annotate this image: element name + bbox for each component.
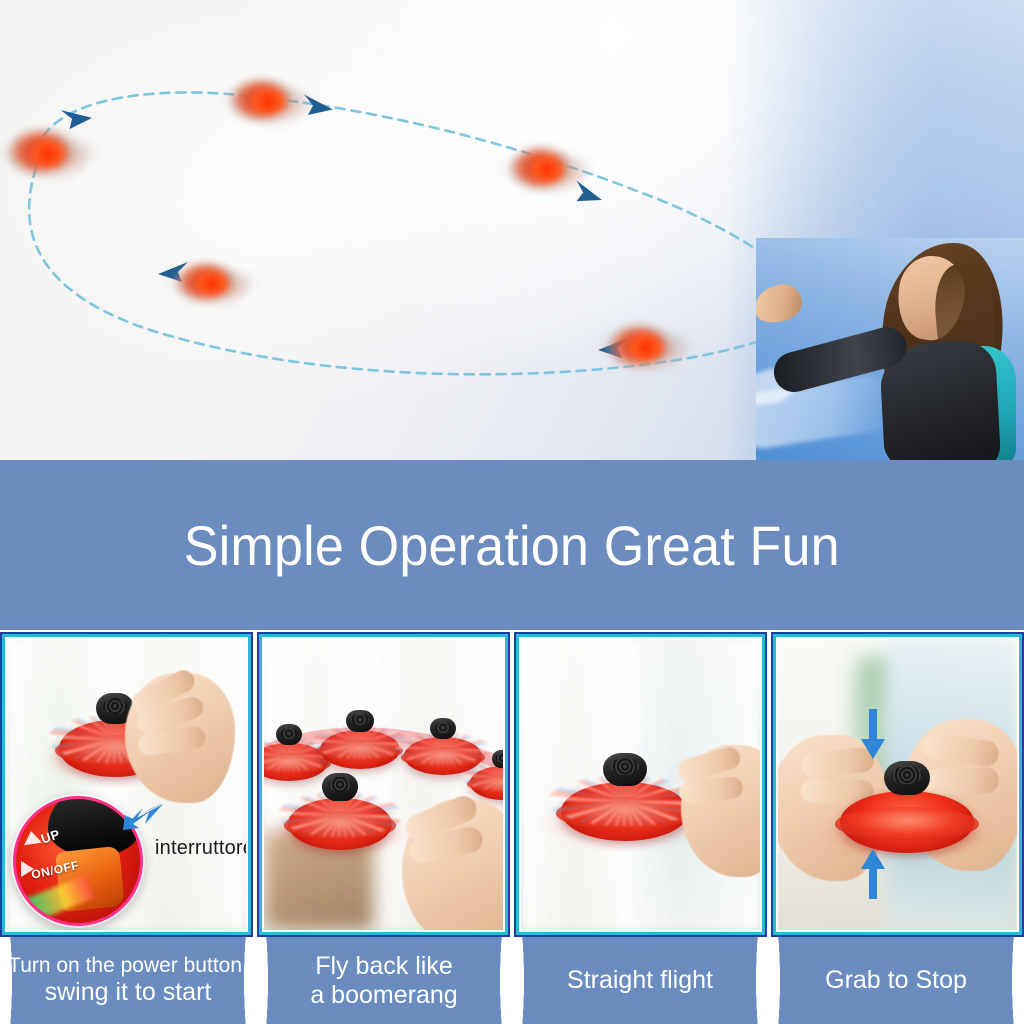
caption-grab-to-stop: Grab to Stop [768, 937, 1024, 1024]
caption-boomerang: Fly back like a boomerang [256, 937, 512, 1024]
hand-catching [402, 799, 503, 930]
drone-lower-left [174, 256, 250, 310]
panel-boomerang[interactable] [257, 632, 510, 937]
feature-panels: UP ON/OFF interruttore [0, 632, 1024, 937]
arrow-up-icon [860, 847, 886, 899]
panel-straight-flight[interactable] [514, 632, 767, 937]
spinner-toy-foreground [288, 771, 392, 855]
caption-line2: swing it to start [8, 978, 248, 1007]
headline-banner: Simple Operation Great Fun [0, 460, 1024, 630]
spinner-toy [840, 759, 974, 859]
spinner-toy [320, 709, 400, 773]
arrow-down-icon [860, 709, 886, 761]
caption-line1: Straight flight [567, 966, 713, 995]
drone-left [6, 122, 90, 184]
drone-bottom [606, 318, 686, 376]
drone-right [508, 140, 586, 198]
caption-straight-flight: Straight flight [512, 937, 768, 1024]
spinner-toy [470, 749, 503, 803]
switch-callout-arrow-icon [119, 800, 165, 834]
caption-line2: a boomerang [310, 981, 457, 1010]
switch-callout-label: interruttore [155, 837, 246, 860]
spinner-toy [561, 751, 689, 847]
panel-power-on[interactable]: UP ON/OFF interruttore [0, 632, 253, 937]
caption-line1: Grab to Stop [825, 966, 967, 995]
woman-launching-orb [756, 238, 1024, 460]
hand-beside-spinner [681, 745, 760, 877]
caption-line1: Turn on the power button, [8, 954, 248, 978]
hero-image [0, 0, 1024, 460]
hand-swinging [125, 673, 235, 803]
caption-line1: Fly back like [310, 952, 457, 981]
page-title: Simple Operation Great Fun [184, 513, 840, 578]
drone-top [228, 72, 308, 130]
caption-separator [502, 937, 521, 1024]
caption-strip: Turn on the power button, swing it to st… [0, 937, 1024, 1024]
caption-separator [246, 937, 265, 1024]
panel-grab-to-stop[interactable] [771, 632, 1024, 937]
caption-power-on: Turn on the power button, swing it to st… [0, 937, 256, 1024]
caption-separator [758, 937, 777, 1024]
